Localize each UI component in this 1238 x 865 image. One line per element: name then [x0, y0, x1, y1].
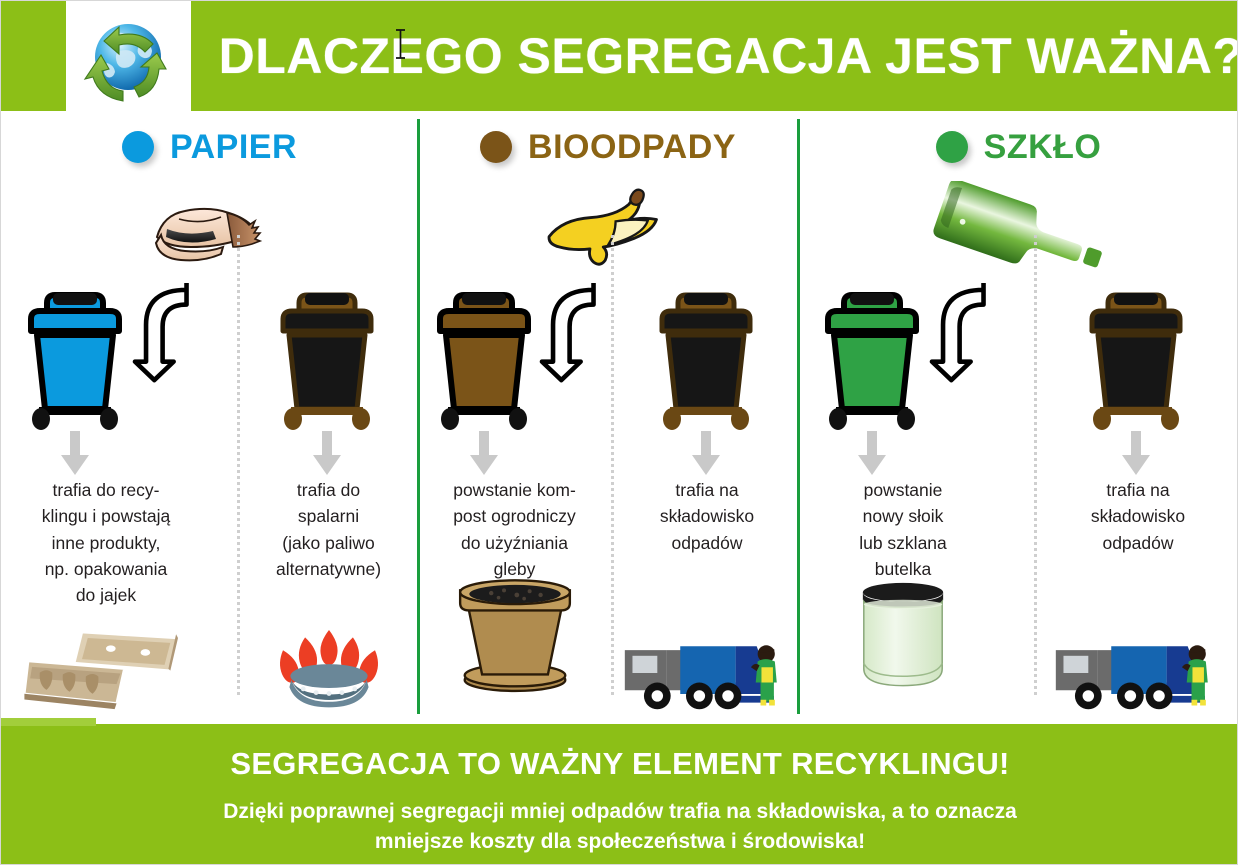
down-arrow-icon — [854, 431, 890, 475]
down-arrow-icon — [309, 431, 345, 475]
branch-caption: trafia na składowisko odpadów — [616, 477, 798, 556]
brown-wheelie-bin-icon — [428, 279, 540, 431]
black-wheelie-bin-icon — [650, 279, 762, 431]
inner-dotted-divider — [611, 235, 614, 695]
column-title-szklo: SZKŁO — [984, 130, 1102, 164]
down-arrow-icon — [466, 431, 502, 475]
column-papier: PAPIER — [1, 111, 418, 721]
bin-flow-row — [418, 279, 611, 431]
blue-wheelie-bin-icon — [19, 279, 131, 431]
footer-banner: SEGREGACJA TO WAŻNY ELEMENT RECYKLINGU! … — [1, 724, 1238, 865]
footer-line-2: mniejsze koszty dla społeczeństwa i środ… — [1, 830, 1238, 854]
down-arrow-icon — [1118, 431, 1154, 475]
footer-line-1: Dzięki poprawnej segregacji mniej odpadó… — [1, 800, 1238, 824]
szklo-branch-recycling: powstanie nowy słoik lub szklana butelka — [798, 279, 1008, 721]
green-bottle-icon — [798, 171, 1238, 286]
incinerator-burner-icon — [241, 591, 416, 711]
compost-flower-pot-icon — [418, 577, 611, 697]
bin-flow-row — [616, 279, 798, 431]
branch-caption: trafia do spalarni (jako paliwo alternat… — [241, 477, 416, 582]
text-cursor-icon — [394, 28, 407, 60]
branch-caption: powstanie kom- post ogrodniczy do użyźni… — [418, 477, 611, 582]
green-wheelie-bin-icon — [816, 279, 928, 431]
banana-peel-icon — [418, 171, 798, 286]
column-title-papier: PAPIER — [170, 130, 297, 164]
egg-carton-icon — [1, 591, 211, 711]
papier-branch-incineration: trafia do spalarni (jako paliwo alternat… — [241, 279, 416, 721]
infographic-poster: DLACZEGO SEGREGACJA JEST WAŻNA? PAPIER — [0, 0, 1238, 865]
bin-flow-row — [798, 279, 1008, 431]
branch-caption: trafia do recy- klingu i powstają inne p… — [1, 477, 211, 608]
curved-arrow-white-icon — [129, 283, 249, 388]
szklo-branch-landfill: trafia na składowisko odpadów — [1038, 279, 1238, 721]
column-szklo: SZKŁO — [798, 111, 1238, 721]
inner-dotted-divider — [237, 235, 240, 695]
recycling-globe-icon — [71, 7, 186, 107]
newspaper-icon — [1, 171, 418, 286]
green-dot-icon — [936, 131, 968, 163]
blue-dot-icon — [122, 131, 154, 163]
glass-jar-icon — [798, 579, 1008, 699]
papier-branch-recycling: trafia do recy- klingu i powstają inne p… — [1, 279, 211, 721]
bio-branch-compost: powstanie kom- post ogrodniczy do użyźni… — [418, 279, 611, 721]
bin-flow-row — [241, 279, 416, 431]
garbage-truck-icon — [616, 597, 798, 717]
footer-accent-strip — [1, 718, 96, 726]
bio-branch-landfill: trafia na składowisko odpadów — [616, 279, 798, 721]
curved-arrow-white-icon — [926, 283, 1046, 388]
down-arrow-icon — [688, 431, 724, 475]
bin-flow-row — [1, 279, 211, 431]
column-title-bioodpady: BIOODPADY — [528, 130, 736, 164]
inner-dotted-divider — [1034, 235, 1037, 695]
column-bioodpady: BIOODPADY — [418, 111, 798, 721]
column-header-papier: PAPIER — [1, 124, 418, 170]
column-header-bioodpady: BIOODPADY — [418, 124, 798, 170]
page-title: DLACZEGO SEGREGACJA JEST WAŻNA? — [223, 1, 1238, 111]
down-arrow-icon — [57, 431, 93, 475]
black-wheelie-bin-icon — [1080, 279, 1192, 431]
brown-dot-icon — [480, 131, 512, 163]
branch-caption: powstanie nowy słoik lub szklana butelka — [798, 477, 1008, 582]
black-wheelie-bin-icon — [271, 279, 383, 431]
columns-area: PAPIER — [1, 111, 1238, 721]
branch-caption: trafia na składowisko odpadów — [1038, 477, 1238, 556]
header-banner: DLACZEGO SEGREGACJA JEST WAŻNA? — [1, 1, 1238, 111]
bin-flow-row — [1038, 279, 1238, 431]
column-header-szklo: SZKŁO — [798, 124, 1238, 170]
footer-headline: SEGREGACJA TO WAŻNY ELEMENT RECYKLINGU! — [1, 746, 1238, 782]
garbage-truck-icon — [1038, 597, 1238, 717]
